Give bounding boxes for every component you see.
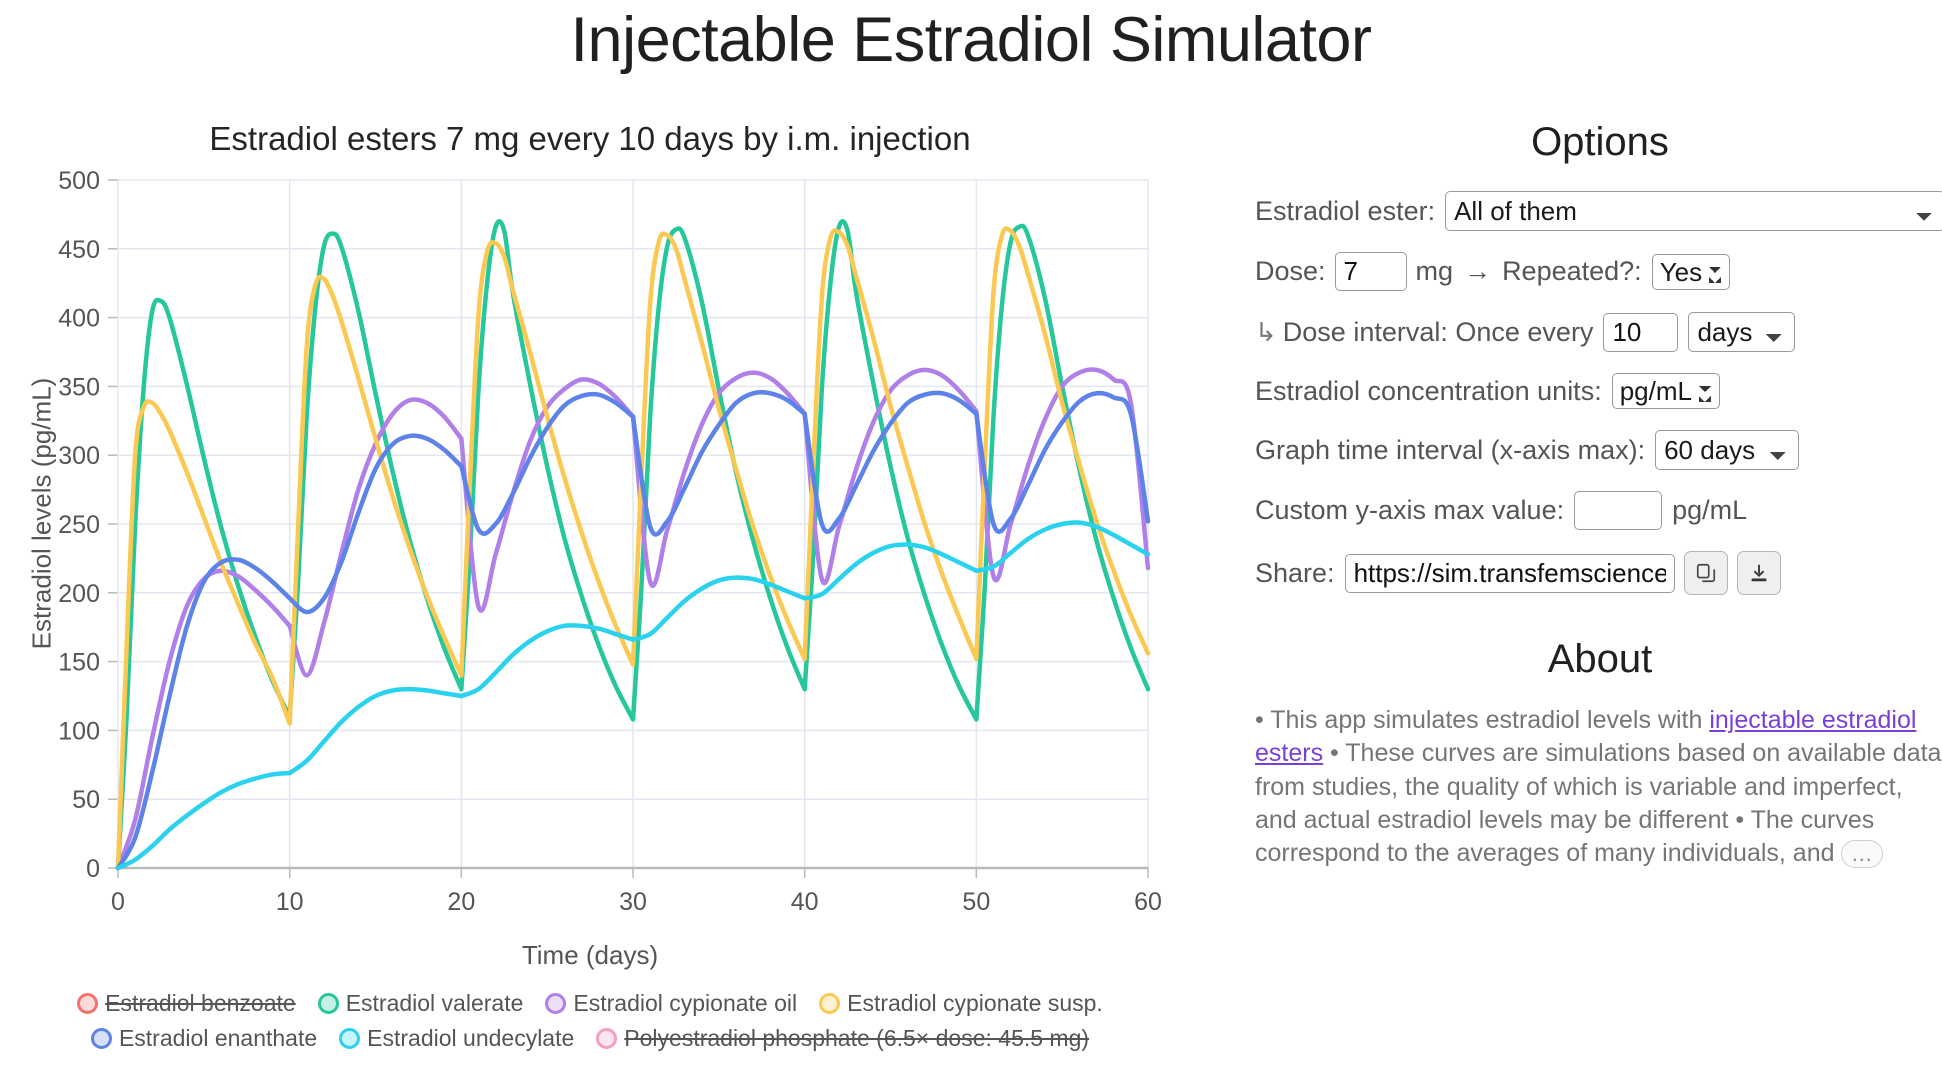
legend-item[interactable]: Estradiol undecylate: [339, 1025, 574, 1052]
chart-legend: Estradiol benzoateEstradiol valerateEstr…: [0, 990, 1180, 1052]
series-line: [976, 393, 1148, 532]
dose-unit: mg: [1416, 256, 1454, 287]
legend-color-icon: [339, 1028, 360, 1049]
svg-text:200: 200: [58, 580, 100, 608]
legend-label: Estradiol enanthate: [119, 1025, 317, 1052]
page-title: Injectable Estradiol Simulator: [0, 6, 1942, 75]
legend-color-icon: [77, 993, 98, 1014]
ester-select[interactable]: All of them: [1445, 191, 1942, 231]
legend-label: Estradiol cypionate susp.: [847, 990, 1103, 1017]
series-line: [461, 221, 633, 719]
options-panel: Options Estradiol ester: All of them Dos…: [1255, 120, 1942, 870]
series-line: [461, 625, 633, 696]
legend-color-icon: [545, 993, 566, 1014]
legend-item[interactable]: Estradiol valerate: [318, 990, 524, 1017]
legend-item[interactable]: Polyestradiol phosphate (6.5× dose: 45.5…: [596, 1025, 1089, 1052]
series-line: [290, 234, 462, 717]
dose-row: Dose: mg → Repeated?: Yes: [1255, 252, 1942, 291]
svg-text:350: 350: [58, 373, 100, 401]
repeated-select[interactable]: Yes: [1652, 254, 1730, 290]
series-line: [118, 571, 290, 868]
plot-wrapper: Estradiol levels (pg/mL) Time (days) 050…: [0, 168, 1180, 868]
svg-text:100: 100: [58, 717, 100, 745]
legend-item[interactable]: Estradiol enanthate: [91, 1025, 317, 1052]
legend-row: Estradiol benzoateEstradiol valerateEstr…: [77, 990, 1103, 1017]
ymax-unit: pg/mL: [1672, 495, 1747, 526]
svg-text:20: 20: [447, 888, 475, 916]
legend-label: Polyestradiol phosphate (6.5× dose: 45.5…: [624, 1025, 1089, 1052]
interval-unit-select[interactable]: days: [1688, 312, 1795, 352]
svg-text:250: 250: [58, 511, 100, 539]
dose-label: Dose:: [1255, 256, 1326, 287]
ymax-input[interactable]: [1574, 491, 1662, 530]
svg-text:0: 0: [111, 888, 125, 916]
download-icon[interactable]: [1737, 551, 1781, 595]
legend-label: Estradiol undecylate: [367, 1025, 574, 1052]
legend-row: Estradiol enanthateEstradiol undecylateP…: [91, 1025, 1089, 1052]
options-heading: Options: [1255, 120, 1942, 165]
time-interval-select[interactable]: 60 days: [1655, 430, 1799, 470]
units-select[interactable]: pg/mL: [1612, 373, 1720, 409]
svg-text:30: 30: [619, 888, 647, 916]
ester-label: Estradiol ester:: [1255, 196, 1435, 227]
legend-color-icon: [91, 1028, 112, 1049]
svg-text:500: 500: [58, 168, 100, 195]
about-heading: About: [1255, 637, 1942, 682]
svg-text:50: 50: [72, 786, 100, 814]
svg-text:0: 0: [86, 855, 100, 883]
ymax-label: Custom y-axis max value:: [1255, 495, 1564, 526]
legend-label: Estradiol benzoate: [105, 990, 296, 1017]
legend-color-icon: [596, 1028, 617, 1049]
series-line: [805, 221, 977, 719]
interval-input[interactable]: [1603, 313, 1678, 352]
chart-title: Estradiol esters 7 mg every 10 days by i…: [0, 120, 1180, 158]
legend-item[interactable]: Estradiol cypionate oil: [545, 990, 797, 1017]
about-part1: • This app simulates estradiol levels wi…: [1255, 706, 1709, 734]
share-row: Share:: [1255, 551, 1942, 595]
legend-color-icon: [318, 993, 339, 1014]
page-root: Injectable Estradiol Simulator Estradiol…: [0, 0, 1942, 1085]
time-interval-row: Graph time interval (x-axis max): 60 day…: [1255, 430, 1942, 470]
about-text: • This app simulates estradiol levels wi…: [1255, 704, 1942, 870]
ymax-row: Custom y-axis max value: pg/mL: [1255, 491, 1942, 530]
svg-text:400: 400: [58, 305, 100, 333]
series-line: [976, 226, 1148, 720]
chart-panel: Estradiol esters 7 mg every 10 days by i…: [0, 120, 1180, 1080]
interval-label: Dose interval: Once every: [1283, 317, 1594, 348]
ester-row: Estradiol ester: All of them: [1255, 191, 1942, 231]
dose-input[interactable]: [1335, 252, 1407, 291]
share-url-input[interactable]: [1345, 554, 1675, 593]
about-part2: • These curves are simulations based on …: [1255, 739, 1941, 867]
x-axis-label: Time (days): [0, 940, 1180, 971]
units-label: Estradiol concentration units:: [1255, 376, 1602, 407]
legend-item[interactable]: Estradiol cypionate susp.: [819, 990, 1103, 1017]
svg-text:40: 40: [791, 888, 819, 916]
legend-label: Estradiol cypionate oil: [573, 990, 797, 1017]
legend-color-icon: [819, 993, 840, 1014]
share-label: Share:: [1255, 558, 1335, 589]
units-row: Estradiol concentration units: pg/mL: [1255, 373, 1942, 409]
series-line: [633, 228, 805, 719]
hook-arrow-icon: ↳: [1255, 317, 1277, 348]
legend-label: Estradiol valerate: [346, 990, 524, 1017]
svg-text:50: 50: [962, 888, 990, 916]
svg-text:450: 450: [58, 236, 100, 264]
time-interval-label: Graph time interval (x-axis max):: [1255, 435, 1645, 466]
copy-icon[interactable]: [1684, 551, 1728, 595]
interval-row: ↳ Dose interval: Once every days: [1255, 312, 1942, 352]
repeated-label: Repeated?:: [1502, 256, 1642, 287]
svg-text:10: 10: [276, 888, 304, 916]
svg-text:300: 300: [58, 442, 100, 470]
arrow-icon: →: [1464, 256, 1491, 287]
show-more-icon[interactable]: …: [1841, 840, 1883, 868]
svg-text:60: 60: [1134, 888, 1162, 916]
legend-item[interactable]: Estradiol benzoate: [77, 990, 296, 1017]
line-chart[interactable]: 0501001502002503003504004505000102030405…: [0, 168, 1180, 928]
svg-text:150: 150: [58, 649, 100, 677]
series-line: [118, 559, 290, 868]
